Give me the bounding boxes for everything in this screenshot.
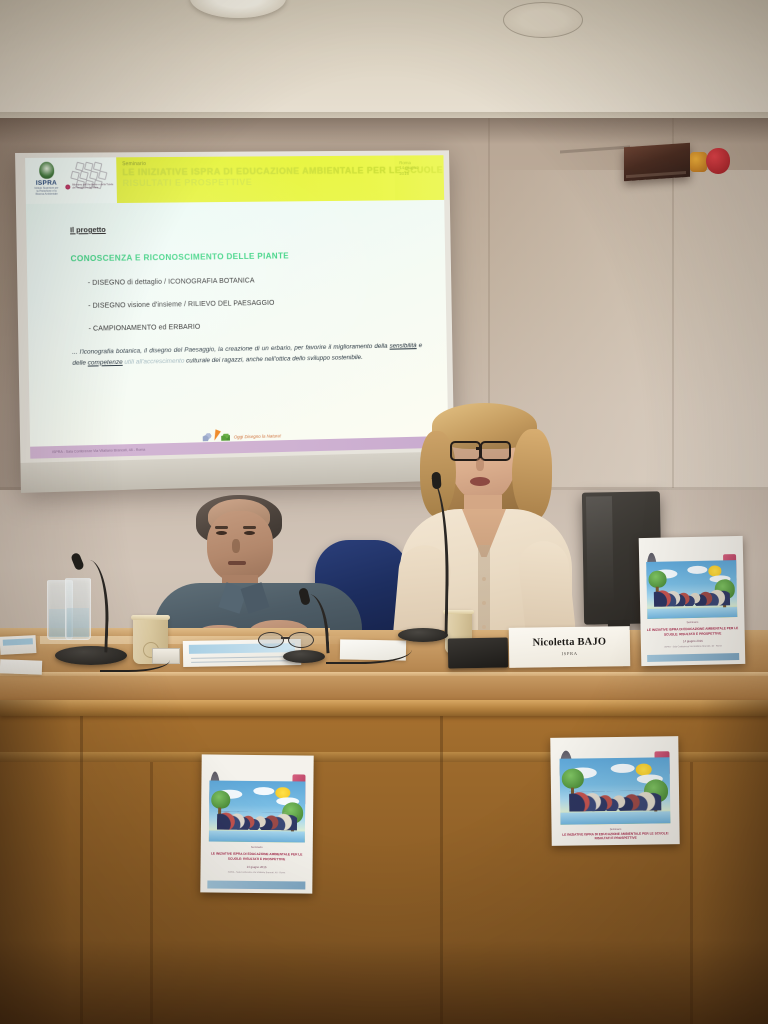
document-sheet <box>0 635 36 655</box>
event-poster: Seminario LE INIZIATIVE ISPRA DI EDUCAZI… <box>200 754 313 893</box>
wall-speaker-icon <box>624 143 690 182</box>
conference-room-photo: ISPRA Istituto Superiore per la Protezio… <box>0 0 768 1024</box>
event-poster: Seminario LE INIZIATIVE ISPRA DI EDUCAZI… <box>639 536 746 666</box>
microphone-head-icon <box>431 472 441 490</box>
ceiling <box>0 0 768 122</box>
eyeglasses-icon <box>480 441 511 461</box>
slide-paragraph: ... l'iconografia botanica, il disegno d… <box>72 341 422 369</box>
fire-alarm-icon <box>706 148 730 174</box>
poster-date: 14 giugno 2016 <box>209 865 303 870</box>
podium-bottom-shadow <box>0 940 768 1024</box>
slide-bullet: - DISEGNO visione d'insieme / RILIEVO DE… <box>88 296 421 309</box>
poster-title: LE INIZIATIVE ISPRA DI EDUCAZIONE AMBIEN… <box>559 831 672 841</box>
poster-venue: ISPRA - Sala Conferenze Via Vitaliano Br… <box>209 872 303 875</box>
ispra-logo-subtext: Istituto Superiore per la Protezione e l… <box>34 188 60 197</box>
poster-title: LE INIZIATIVE ISPRA DI EDUCAZIONE AMBIEN… <box>647 626 739 637</box>
alarm-light-icon <box>690 152 707 172</box>
oggi-disegno-logo-icon: Oggi Disegno la Natura! <box>203 428 282 441</box>
poster-venue: ISPRA - Sala Conferenze Via Vitaliano Br… <box>649 645 736 649</box>
poster-date: 14 giugno 2016 <box>649 638 736 644</box>
slide-paragraph-underline2: competenze <box>88 358 123 366</box>
poster-kicker: Seminario <box>210 846 304 850</box>
ispra-logo-icon: ISPRA Istituto Superiore per la Protezio… <box>33 162 59 197</box>
slide-paragraph-line2a: favorire il miglioramento della <box>305 343 389 351</box>
poster-title: LE INIZIATIVE ISPRA DI EDUCAZIONE AMBIEN… <box>207 852 306 862</box>
slide-heading: CONOSCENZA E RICONOSCIMENTO DELLE PIANTE <box>70 249 420 263</box>
slide-logos: ISPRA Istituto Superiore per la Protezio… <box>25 157 117 204</box>
slide-footer-logo-text: Oggi Disegno la Natura! <box>234 433 281 439</box>
slide-bullet: - CAMPIONAMENTO ed ERBARIO <box>89 319 422 333</box>
nameplate: Nicoletta BAJO ISPRA <box>509 626 631 668</box>
slide-paragraph-line1: ... l'iconografia botanica, il disegno d… <box>72 344 303 355</box>
slide-bullet: - DISEGNO di dettaglio / ICONOGRAFIA BOT… <box>88 274 421 287</box>
nameplate-organization: ISPRA <box>509 650 630 657</box>
podium-top-molding <box>0 700 768 716</box>
slide-title-banner: Seminario LE INIZIATIVE ISPRA DI EDUCAZI… <box>116 155 444 203</box>
slide-date-year: 2016 <box>399 171 441 177</box>
table-front-face <box>0 676 768 702</box>
document-sheet <box>0 659 42 674</box>
projection-screen: ISPRA Istituto Superiore per la Protezio… <box>15 150 455 493</box>
poster-artwork <box>559 757 670 825</box>
slide-kicker: Il progetto <box>70 222 420 235</box>
poster-footer-band <box>647 653 739 663</box>
slide-paragraph-underline1: sensibilità <box>390 342 417 349</box>
slide-header: ISPRA Istituto Superiore per la Protezio… <box>25 155 444 204</box>
av-control-box[interactable] <box>448 637 509 668</box>
slide-paragraph-line3: culturale dei ragazzi, anche nell'ottica… <box>186 354 363 364</box>
ministry-logo-text: Ministero dell'Ambiente e della Tutela d… <box>72 183 117 189</box>
event-poster: Seminario LE INIZIATIVE ISPRA DI EDUCAZI… <box>550 736 679 846</box>
slide-body: Il progetto CONOSCENZA E RICONOSCIMENTO … <box>26 200 448 431</box>
nameplate-name: Nicoletta BAJO <box>509 636 630 649</box>
poster-kicker: Seminario <box>649 621 736 626</box>
poster-artwork <box>209 781 306 843</box>
poster-artwork <box>646 560 737 618</box>
slide-paragraph-line2e: utili all'accrescimento <box>123 357 185 365</box>
poster-footer-band <box>207 880 306 889</box>
ceiling-vent-icon <box>503 2 583 38</box>
presentation-slide: ISPRA Istituto Superiore per la Protezio… <box>25 155 448 458</box>
ministry-logo-icon: Ministero dell'Ambiente e della Tutela d… <box>65 183 116 189</box>
slide-date-block: Roma 14 giugno 2016 <box>399 160 441 176</box>
